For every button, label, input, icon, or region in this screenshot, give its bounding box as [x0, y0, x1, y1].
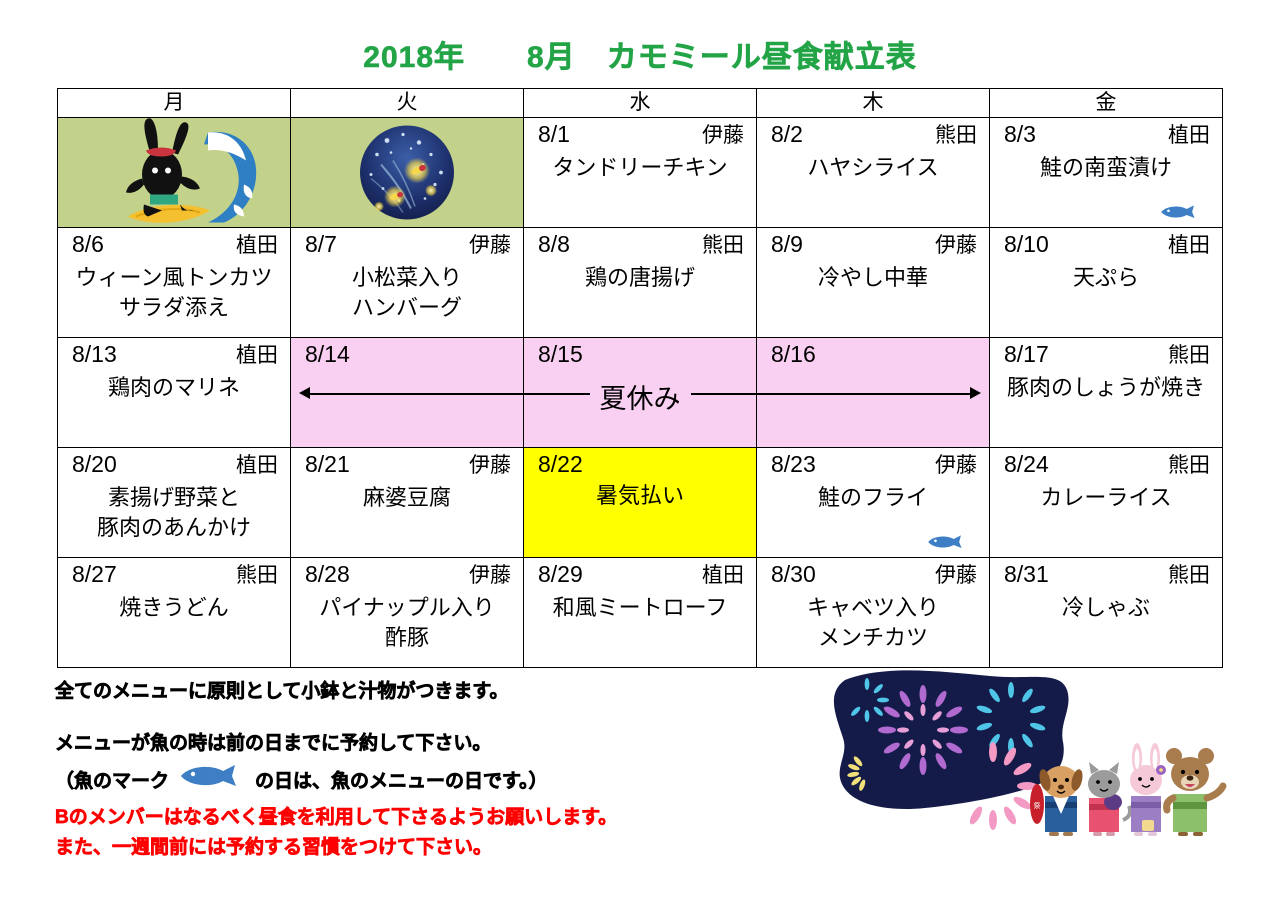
- calendar-cell-day[interactable]: 8/2熊田ハヤシライス: [757, 118, 990, 228]
- fireworks-and-yukata-animals-illustration: 祭: [815, 668, 1245, 888]
- calendar-cell-day[interactable]: 8/7伊藤小松菜入り ハンバーグ: [291, 228, 524, 338]
- note-fish-mark-prefix: （魚のマーク: [55, 766, 169, 793]
- calendar-cell-day[interactable]: 8/24熊田カレーライス: [990, 448, 1223, 558]
- holiday-arrow-line-middle: [524, 393, 756, 395]
- cell-header: 8/9伊藤: [757, 228, 989, 261]
- cell-date: 8/21: [305, 449, 350, 479]
- calendar-cell-day[interactable]: 8/29植田和風ミートローフ: [524, 558, 757, 668]
- cell-header: 8/14: [291, 338, 523, 369]
- cell-staff-name: 熊田: [236, 561, 278, 591]
- cell-date: 8/14: [305, 339, 350, 369]
- footer-notes: 全てのメニューに原則として小鉢と汁物がつきます。 メニューが魚の時は前の日までに…: [55, 678, 815, 794]
- cell-menu-text: 小松菜入り ハンバーグ: [291, 261, 523, 323]
- weekday-header-tue: 火: [291, 89, 524, 118]
- cell-menu-text: 麻婆豆腐: [291, 481, 523, 513]
- cell-header: 8/22: [524, 448, 756, 479]
- cell-header: 8/29植田: [524, 558, 756, 591]
- cell-header: 8/13植田: [58, 338, 290, 371]
- cell-date: 8/13: [72, 339, 117, 369]
- cell-header: 8/10植田: [990, 228, 1222, 261]
- calendar-cell-day[interactable]: 8/9伊藤冷やし中華: [757, 228, 990, 338]
- cell-header: 8/21伊藤: [291, 448, 523, 481]
- cell-staff-name: 熊田: [702, 231, 744, 261]
- cell-header: 8/20植田: [58, 448, 290, 481]
- cell-staff-name: 熊田: [935, 121, 977, 151]
- cell-menu-text: 鶏肉のマリネ: [58, 371, 290, 403]
- cell-date: 8/16: [771, 339, 816, 369]
- calendar-body: 8/1伊藤タンドリーチキン8/2熊田ハヤシライス8/3植田鮭の南蛮漬け 8/6植…: [58, 118, 1223, 668]
- cell-menu-text: 焼きうどん: [58, 591, 290, 623]
- surfing-rabbit-icon: [58, 118, 290, 227]
- cell-header: 8/1伊藤: [524, 118, 756, 151]
- cell-menu-text: 素揚げ野菜と 豚肉のあんかけ: [58, 481, 290, 543]
- cell-staff-name: 熊田: [1168, 561, 1210, 591]
- cell-date: 8/3: [1004, 119, 1036, 149]
- cell-header: 8/30伊藤: [757, 558, 989, 591]
- cell-date: 8/22: [538, 449, 583, 479]
- cell-menu-text: タンドリーチキン: [524, 151, 756, 183]
- cell-date: 8/23: [771, 449, 816, 479]
- cell-header: 8/27熊田: [58, 558, 290, 591]
- cell-date: 8/29: [538, 559, 583, 589]
- calendar-cell-day[interactable]: 8/3植田鮭の南蛮漬け: [990, 118, 1223, 228]
- note-fish-mark-line: （魚のマーク の日は、魚のメニューの日です。）: [55, 764, 815, 794]
- cell-date: 8/27: [72, 559, 117, 589]
- cell-menu-text: パイナップル入り 酢豚: [291, 591, 523, 653]
- cell-date: 8/20: [72, 449, 117, 479]
- cell-staff-name: 伊藤: [935, 451, 977, 481]
- cell-date: 8/15: [538, 339, 583, 369]
- cell-staff-name: 伊藤: [935, 561, 977, 591]
- cell-date: 8/7: [305, 229, 337, 259]
- cell-date: 8/17: [1004, 339, 1049, 369]
- summer-holiday-label: 夏休み: [590, 377, 691, 416]
- cell-header: 8/6植田: [58, 228, 290, 261]
- calendar-cell-day[interactable]: 8/1伊藤タンドリーチキン: [524, 118, 757, 228]
- cell-date: 8/8: [538, 229, 570, 259]
- weekday-header-mon: 月: [58, 89, 291, 118]
- calendar-cell-day[interactable]: 8/6植田ウィーン風トンカツ サラダ添え: [58, 228, 291, 338]
- page-title: 2018年 8月 カモミール昼食献立表: [0, 32, 1280, 76]
- cell-staff-name: 伊藤: [469, 451, 511, 481]
- note-fish-reservation: メニューが魚の時は前の日までに予約して下さい。: [55, 730, 815, 758]
- calendar-cell-day[interactable]: 8/15夏休み: [524, 338, 757, 448]
- footer-notes-red: Bのメンバーはなるべく昼食を利用して下さるようお願いします。 また、一週間前には…: [55, 803, 835, 863]
- cell-header: 8/15: [524, 338, 756, 369]
- cell-date: 8/6: [72, 229, 104, 259]
- cell-header: 8/16: [757, 338, 989, 369]
- weekday-header-wed: 水: [524, 89, 757, 118]
- cell-staff-name: 伊藤: [935, 231, 977, 261]
- cell-date: 8/9: [771, 229, 803, 259]
- cell-menu-text: 和風ミートローフ: [524, 591, 756, 623]
- calendar-week-row: 8/20植田素揚げ野菜と 豚肉のあんかけ8/21伊藤麻婆豆腐8/22暑気払い8/…: [58, 448, 1223, 558]
- cell-header: 8/23伊藤: [757, 448, 989, 481]
- calendar-week-row: 8/6植田ウィーン風トンカツ サラダ添え8/7伊藤小松菜入り ハンバーグ8/8熊…: [58, 228, 1223, 338]
- cell-menu-text: ウィーン風トンカツ サラダ添え: [58, 261, 290, 323]
- calendar-week-row: 8/27熊田焼きうどん8/28伊藤パイナップル入り 酢豚8/29植田和風ミートロ…: [58, 558, 1223, 668]
- cell-header: 8/7伊藤: [291, 228, 523, 261]
- holiday-arrow-line-left: [309, 393, 523, 395]
- cell-staff-name: 植田: [1168, 231, 1210, 261]
- cell-staff-name: 植田: [236, 231, 278, 261]
- cell-menu-text: 冷しゃぶ: [990, 591, 1222, 623]
- cell-menu-text: 鮭の南蛮漬け: [990, 151, 1222, 183]
- calendar-cell-day[interactable]: 8/20植田素揚げ野菜と 豚肉のあんかけ: [58, 448, 291, 558]
- note-side-dishes: 全てのメニューに原則として小鉢と汁物がつきます。: [55, 678, 815, 706]
- holiday-arrow-head-right: [970, 387, 981, 399]
- cell-date: 8/2: [771, 119, 803, 149]
- fish-icon: [1160, 203, 1200, 221]
- cell-staff-name: 伊藤: [469, 561, 511, 591]
- calendar-cell-day[interactable]: 8/31熊田冷しゃぶ: [990, 558, 1223, 668]
- cell-menu-text: 冷やし中華: [757, 261, 989, 293]
- cell-menu-text: 鶏の唐揚げ: [524, 261, 756, 293]
- cell-staff-name: 伊藤: [469, 231, 511, 261]
- cell-staff-name: 熊田: [1168, 451, 1210, 481]
- cell-header: 8/17熊田: [990, 338, 1222, 371]
- cell-header: 8/8熊田: [524, 228, 756, 261]
- calendar-cell-day[interactable]: 8/22暑気払い: [524, 448, 757, 558]
- holiday-arrow-line-right: [757, 393, 971, 395]
- cell-date: 8/30: [771, 559, 816, 589]
- cell-header: 8/31熊田: [990, 558, 1222, 591]
- cell-menu-text: 鮭のフライ: [757, 481, 989, 513]
- calendar-cell-day[interactable]: 8/10植田天ぷら: [990, 228, 1223, 338]
- cell-menu-text: 豚肉のしょうが焼き: [990, 371, 1222, 403]
- cell-menu-text: 暑気払い: [524, 479, 756, 511]
- cell-staff-name: 植田: [236, 341, 278, 371]
- calendar-cell-day[interactable]: 8/27熊田焼きうどん: [58, 558, 291, 668]
- weekday-header-fri: 金: [990, 89, 1223, 118]
- cell-menu-text: キャベツ入り メンチカツ: [757, 591, 989, 653]
- calendar-cell-day[interactable]: 8/28伊藤パイナップル入り 酢豚: [291, 558, 524, 668]
- cell-staff-name: 伊藤: [702, 121, 744, 151]
- cell-date: 8/28: [305, 559, 350, 589]
- svg-text:祭: 祭: [1034, 801, 1041, 810]
- firefly-night-sky-icon: [291, 118, 523, 227]
- calendar-cell-decoration: [58, 118, 291, 228]
- calendar-cell-day[interactable]: 8/30伊藤キャベツ入り メンチカツ: [757, 558, 990, 668]
- cell-staff-name: 熊田: [1168, 341, 1210, 371]
- calendar-cell-day[interactable]: 8/16: [757, 338, 990, 448]
- cell-header: 8/3植田: [990, 118, 1222, 151]
- calendar-cell-day[interactable]: 8/21伊藤麻婆豆腐: [291, 448, 524, 558]
- holiday-arrow-head-left: [299, 387, 310, 399]
- cell-menu-text: ハヤシライス: [757, 151, 989, 183]
- cell-date: 8/1: [538, 119, 570, 149]
- weekday-header-thu: 木: [757, 89, 990, 118]
- note-b-member-request: Bのメンバーはなるべく昼食を利用して下さるようお願いします。 また、一週間前には…: [55, 803, 835, 863]
- note-fish-mark-suffix: の日は、魚のメニューの日です。）: [255, 766, 548, 793]
- cell-menu-text: カレーライス: [990, 481, 1222, 513]
- calendar-cell-decoration: [291, 118, 524, 228]
- calendar-cell-day[interactable]: 8/14: [291, 338, 524, 448]
- cell-menu-text: 天ぷら: [990, 261, 1222, 293]
- cell-date: 8/24: [1004, 449, 1049, 479]
- cell-date: 8/31: [1004, 559, 1049, 589]
- cell-header: 8/28伊藤: [291, 558, 523, 591]
- cell-header: 8/2熊田: [757, 118, 989, 151]
- calendar-cell-day[interactable]: 8/23伊藤鮭のフライ: [757, 448, 990, 558]
- cell-header: 8/24熊田: [990, 448, 1222, 481]
- calendar-cell-day[interactable]: 8/13植田鶏肉のマリネ: [58, 338, 291, 448]
- lunch-menu-calendar: 月 火 水 木 金: [57, 88, 1223, 668]
- cell-staff-name: 植田: [702, 561, 744, 591]
- cell-staff-name: 植田: [1168, 121, 1210, 151]
- calendar-week-row: 8/1伊藤タンドリーチキン8/2熊田ハヤシライス8/3植田鮭の南蛮漬け: [58, 118, 1223, 228]
- cell-date: 8/10: [1004, 229, 1049, 259]
- weekday-header-row: 月 火 水 木 金: [58, 89, 1223, 118]
- cell-staff-name: 植田: [236, 451, 278, 481]
- calendar-week-row: 8/13植田鶏肉のマリネ8/148/15夏休み8/168/17熊田豚肉のしょうが…: [58, 338, 1223, 448]
- calendar-cell-day[interactable]: 8/17熊田豚肉のしょうが焼き: [990, 338, 1223, 448]
- fish-icon: [927, 533, 967, 551]
- calendar-cell-day[interactable]: 8/8熊田鶏の唐揚げ: [524, 228, 757, 338]
- fish-icon: [169, 764, 255, 794]
